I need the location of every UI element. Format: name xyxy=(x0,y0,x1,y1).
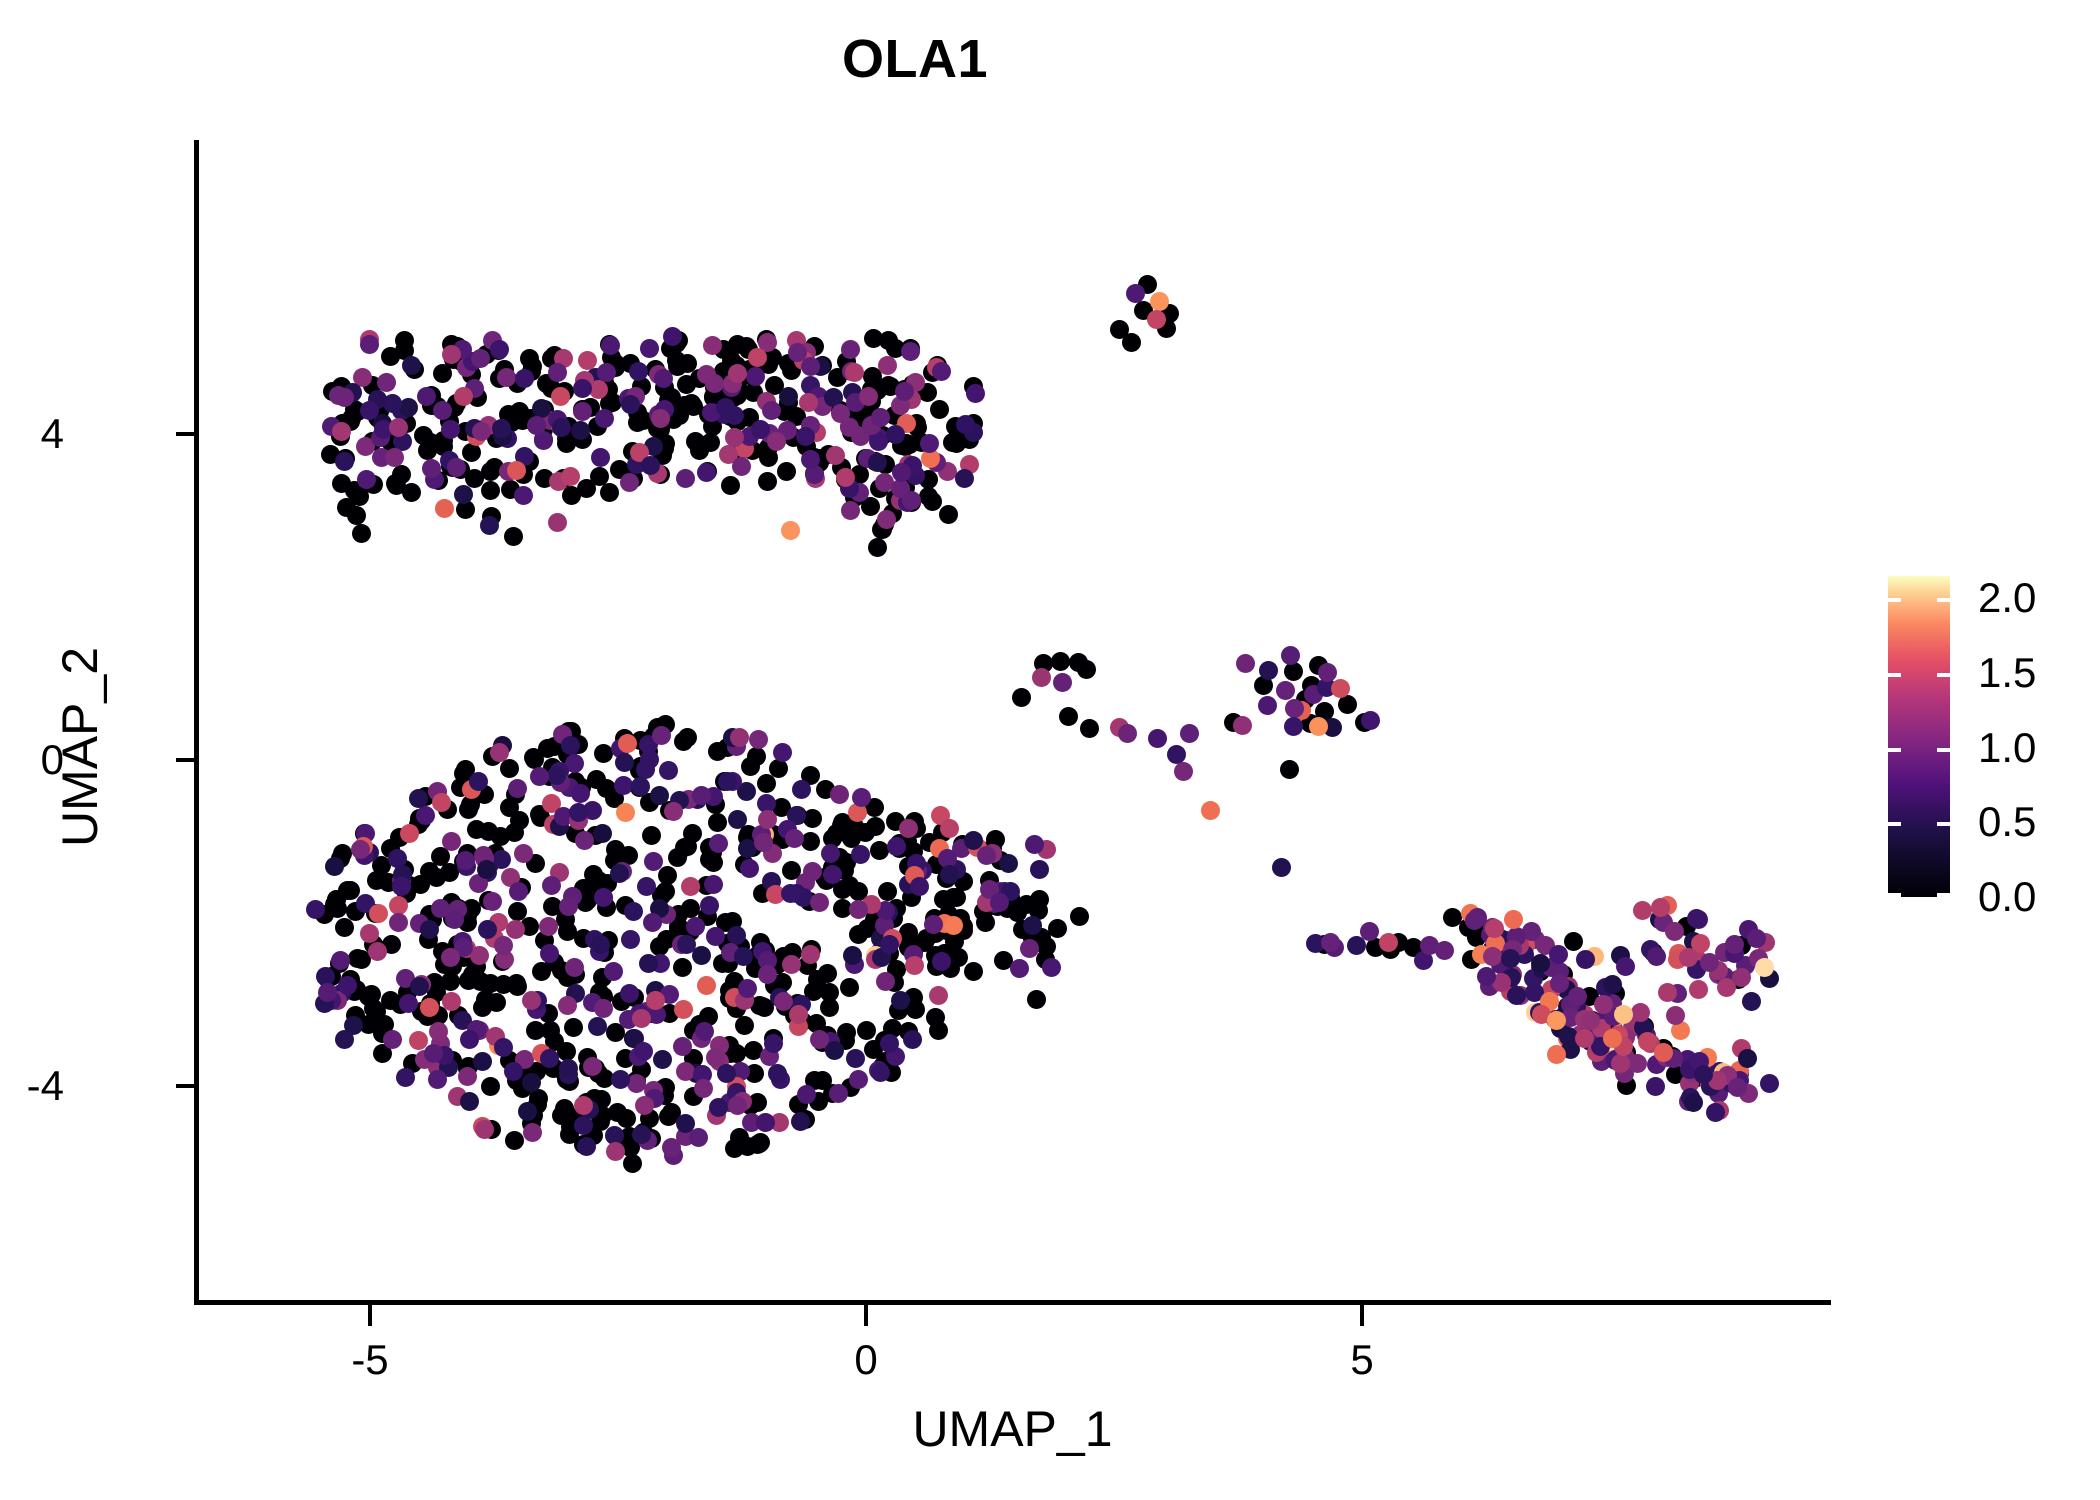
scatter-point xyxy=(1331,679,1350,698)
scatter-point xyxy=(1611,1054,1630,1073)
scatter-point xyxy=(1689,980,1708,999)
scatter-point xyxy=(730,728,749,747)
scatter-point xyxy=(547,766,566,785)
scatter-point xyxy=(697,976,716,995)
colorbar-tick-mark xyxy=(1888,598,1901,602)
scatter-point xyxy=(634,1042,653,1061)
scatter-point xyxy=(1684,1093,1703,1112)
scatter-point xyxy=(768,1064,787,1083)
colorbar-tick-mark xyxy=(1888,673,1901,677)
scatter-point xyxy=(573,402,592,421)
scatter-point xyxy=(559,1059,578,1078)
scatter-point xyxy=(748,348,767,367)
colorbar-tick-label: 2.0 xyxy=(1978,574,2036,622)
scatter-point xyxy=(526,1021,545,1040)
scatter-point xyxy=(632,1009,651,1028)
scatter-point xyxy=(1379,933,1398,952)
scatter-point xyxy=(352,524,371,543)
scatter-point xyxy=(428,1070,447,1089)
scatter-point xyxy=(964,962,983,981)
scatter-point xyxy=(514,486,533,505)
scatter-point xyxy=(1477,967,1496,986)
scatter-point xyxy=(523,1123,542,1142)
scatter-point xyxy=(999,854,1018,873)
scatter-point xyxy=(591,448,610,467)
scatter-point xyxy=(507,461,526,480)
scatter-point xyxy=(601,336,620,355)
scatter-point xyxy=(1280,760,1299,779)
scatter-point xyxy=(708,742,727,761)
scatter-point xyxy=(789,1005,808,1024)
scatter-point xyxy=(1568,987,1587,1006)
scatter-point xyxy=(357,470,376,489)
scatter-point xyxy=(628,413,647,432)
scatter-point xyxy=(868,453,887,472)
y-tick-label: 4 xyxy=(41,410,64,458)
scatter-point xyxy=(686,432,705,451)
scatter-point xyxy=(432,793,451,812)
scatter-point xyxy=(429,1022,448,1041)
scatter-point xyxy=(542,876,561,895)
scatter-point xyxy=(1010,959,1029,978)
x-tick-label: 5 xyxy=(1350,1336,1373,1384)
scatter-point xyxy=(1180,724,1199,743)
scatter-point xyxy=(1059,707,1078,726)
scatter-point xyxy=(478,920,497,939)
scatter-point xyxy=(327,890,346,909)
scatter-point xyxy=(1628,1054,1647,1073)
scatter-point xyxy=(924,915,943,934)
scatter-point xyxy=(758,472,777,491)
scatter-point xyxy=(518,1102,537,1121)
scatter-point xyxy=(396,1068,415,1087)
colorbar-gradient: 2.01.51.00.50.0 xyxy=(1888,576,1950,897)
scatter-point xyxy=(442,345,461,364)
scatter-point xyxy=(678,837,697,856)
scatter-point xyxy=(577,1137,596,1156)
scatter-point xyxy=(610,864,629,883)
scatter-point xyxy=(1700,953,1719,972)
scatter-point xyxy=(494,936,513,955)
scatter-point xyxy=(654,369,673,388)
scatter-point xyxy=(621,395,640,414)
scatter-point xyxy=(1020,939,1039,958)
scatter-point xyxy=(773,743,792,762)
scatter-point xyxy=(636,760,655,779)
scatter-point xyxy=(689,1128,708,1147)
scatter-point xyxy=(395,331,414,350)
scatter-point xyxy=(1575,1029,1594,1048)
scatter-point xyxy=(416,806,435,825)
scatter-point xyxy=(480,516,499,535)
scatter-point xyxy=(389,913,408,932)
scatter-point xyxy=(400,824,419,843)
scatter-point xyxy=(1738,1049,1757,1068)
scatter-point xyxy=(1233,716,1252,735)
scatter-point xyxy=(977,846,996,865)
colorbar-tick-mark xyxy=(1937,673,1950,677)
scatter-point xyxy=(539,917,558,936)
scatter-point xyxy=(929,1021,948,1040)
scatter-point xyxy=(652,726,671,745)
scatter-point xyxy=(1742,992,1761,1011)
scatter-point xyxy=(454,387,473,406)
scatter-point xyxy=(368,942,387,961)
scatter-point xyxy=(509,882,528,901)
scatter-point xyxy=(593,824,612,843)
scatter-point xyxy=(1603,975,1622,994)
scatter-point xyxy=(840,978,859,997)
scatter-point xyxy=(650,786,669,805)
scatter-point xyxy=(359,987,378,1006)
scatter-point xyxy=(799,393,818,412)
scatter-point xyxy=(620,473,639,492)
scatter-point xyxy=(1666,1006,1685,1025)
scatter-point xyxy=(1080,719,1099,738)
scatter-point xyxy=(595,409,614,428)
scatter-point xyxy=(826,446,845,465)
scatter-point xyxy=(617,1109,636,1128)
scatter-point xyxy=(442,832,461,851)
scatter-point xyxy=(600,483,619,502)
scatter-point xyxy=(856,823,875,842)
scatter-point xyxy=(681,877,700,896)
scatter-point xyxy=(1122,333,1141,352)
scatter-point xyxy=(574,1116,593,1135)
colorbar-tick-mark xyxy=(1888,748,1901,752)
y-tick-mark xyxy=(176,758,196,762)
scatter-point xyxy=(1747,929,1766,948)
scatter-point xyxy=(1258,696,1277,715)
scatter-point xyxy=(692,946,711,965)
scatter-point xyxy=(756,1113,775,1132)
scatter-point xyxy=(1284,662,1303,681)
scatter-point xyxy=(857,1021,876,1040)
scatter-point xyxy=(695,1022,714,1041)
scatter-point xyxy=(522,1073,541,1092)
scatter-point xyxy=(664,802,683,821)
scatter-point xyxy=(569,803,588,822)
scatter-point xyxy=(360,335,379,354)
scatter-point xyxy=(801,945,820,964)
scatter-point xyxy=(387,476,406,495)
scatter-point xyxy=(901,342,920,361)
scatter-point xyxy=(1027,990,1046,1009)
scatter-point xyxy=(558,996,577,1015)
scatter-point xyxy=(524,748,543,767)
scatter-point xyxy=(574,1096,593,1115)
scatter-point xyxy=(751,1133,770,1152)
scatter-point xyxy=(1174,762,1193,781)
colorbar-tick-label: 1.5 xyxy=(1978,649,2036,697)
scatter-point xyxy=(1550,974,1569,993)
scatter-point xyxy=(674,1000,693,1019)
scatter-point xyxy=(781,521,800,540)
scatter-point xyxy=(514,844,533,863)
scatter-point xyxy=(481,1077,500,1096)
scatter-point xyxy=(1564,932,1583,951)
scatter-point xyxy=(1760,1074,1779,1093)
scatter-point xyxy=(732,457,751,476)
scatter-point xyxy=(741,757,760,776)
scatter-point xyxy=(477,860,496,879)
scatter-point xyxy=(1276,681,1295,700)
scatter-point xyxy=(1547,1045,1566,1064)
scatter-point xyxy=(740,859,759,878)
scatter-point xyxy=(831,404,850,423)
y-tick-label: -4 xyxy=(27,1062,64,1110)
scatter-point xyxy=(651,409,670,428)
scatter-point xyxy=(1638,1032,1657,1051)
scatter-point xyxy=(1581,1011,1600,1030)
scatter-point xyxy=(880,1034,899,1053)
scatter-point xyxy=(335,918,354,937)
scatter-point xyxy=(677,375,696,394)
scatter-point xyxy=(1012,688,1031,707)
scatter-point xyxy=(956,415,975,434)
scatter-point xyxy=(849,900,868,919)
scatter-point xyxy=(818,964,837,983)
scatter-point xyxy=(1755,958,1774,977)
scatter-point xyxy=(467,820,486,839)
scatter-point xyxy=(797,1085,816,1104)
scatter-point xyxy=(564,1018,583,1037)
scatter-point xyxy=(1030,860,1049,879)
scatter-point xyxy=(1070,907,1089,926)
scatter-point xyxy=(369,904,388,923)
y-tick-mark xyxy=(176,1084,196,1088)
scatter-point xyxy=(880,935,899,954)
scatter-point xyxy=(447,458,466,477)
scatter-point xyxy=(868,538,887,557)
scatter-point xyxy=(641,456,660,475)
scatter-point xyxy=(781,884,800,903)
colorbar-tick-label: 0.0 xyxy=(1978,873,2036,921)
scatter-point xyxy=(940,819,959,838)
scatter-point xyxy=(1032,668,1051,687)
scatter-point xyxy=(551,387,570,406)
scatter-point xyxy=(540,1049,559,1068)
scatter-point xyxy=(561,467,580,486)
scatter-point xyxy=(859,387,878,406)
scatter-point xyxy=(335,452,354,471)
scatter-point xyxy=(849,1070,868,1089)
scatter-point xyxy=(577,479,596,498)
scatter-point xyxy=(673,958,692,977)
scatter-point xyxy=(505,823,524,842)
scatter-point xyxy=(606,1142,625,1161)
scatter-point xyxy=(433,401,452,420)
scatter-point xyxy=(483,892,502,911)
y-tick-mark xyxy=(176,432,196,436)
scatter-point xyxy=(1603,1029,1622,1048)
scatter-point xyxy=(1201,801,1220,820)
scatter-point xyxy=(532,962,551,981)
scatter-point xyxy=(706,927,725,946)
colorbar-tick-mark xyxy=(1937,598,1950,602)
scatter-point xyxy=(870,841,889,860)
scatter-point xyxy=(500,759,519,778)
scatter-point xyxy=(845,363,864,382)
scatter-point xyxy=(338,976,357,995)
scatter-point xyxy=(841,501,860,520)
scatter-point xyxy=(588,1017,607,1036)
scatter-point xyxy=(762,401,781,420)
scatter-point xyxy=(548,363,567,382)
scatter-point xyxy=(481,462,500,481)
scatter-point xyxy=(910,877,929,896)
scatter-point xyxy=(1647,947,1666,966)
scatter-point xyxy=(1053,673,1072,692)
scatter-point xyxy=(1284,717,1303,736)
scatter-point xyxy=(1435,941,1454,960)
scatter-point xyxy=(620,984,639,1003)
scatter-point xyxy=(757,774,776,793)
scatter-point xyxy=(820,983,839,1002)
y-tick-label: 0 xyxy=(41,736,64,784)
scatter-point xyxy=(1614,1005,1633,1024)
scatter-point xyxy=(575,831,594,850)
scatter-point xyxy=(639,954,658,973)
scatter-point xyxy=(329,386,348,405)
scatter-point xyxy=(435,499,454,518)
scatter-point xyxy=(792,780,811,799)
scatter-point xyxy=(476,990,495,1009)
scatter-point xyxy=(1148,729,1167,748)
scatter-point xyxy=(604,962,623,981)
scatter-point xyxy=(751,420,770,439)
scatter-point xyxy=(420,998,439,1017)
scatter-point xyxy=(697,463,716,482)
scatter-point xyxy=(803,862,822,881)
scatter-point xyxy=(1679,948,1698,967)
scatter-point xyxy=(1665,922,1684,941)
scatter-point xyxy=(624,902,643,921)
scatter-point xyxy=(727,926,746,945)
scatter-point xyxy=(360,924,379,943)
scatter-point xyxy=(738,979,757,998)
scatter-point xyxy=(383,1030,402,1049)
scatter-point xyxy=(381,347,400,366)
scatter-point xyxy=(306,900,325,919)
scatter-point xyxy=(758,965,777,984)
feature-plot-figure: OLA1 UMAP_2 UMAP_1 40-4-505 2.01.51.00.5… xyxy=(0,0,2100,1500)
scatter-point xyxy=(399,994,418,1013)
scatter-point xyxy=(682,394,701,413)
scatter-point xyxy=(1236,654,1255,673)
scatter-point xyxy=(708,813,727,832)
scatter-point xyxy=(990,893,1009,912)
scatter-point xyxy=(777,462,796,481)
scatter-point xyxy=(594,888,613,907)
x-axis-line xyxy=(194,1300,1831,1305)
scatter-point xyxy=(481,974,500,993)
scatter-point xyxy=(470,946,489,965)
scatter-point xyxy=(871,408,890,427)
scatter-point xyxy=(527,416,546,435)
scatter-point xyxy=(559,897,578,916)
scatter-point xyxy=(1023,916,1042,935)
scatter-point xyxy=(725,428,744,447)
scatter-point xyxy=(785,829,804,848)
scatter-point xyxy=(674,732,693,751)
scatter-point xyxy=(1576,950,1595,969)
scatter-point xyxy=(515,369,534,388)
scatter-point xyxy=(1077,660,1096,679)
x-tick-label: 0 xyxy=(854,1336,877,1384)
scatter-point xyxy=(895,382,914,401)
scatter-point xyxy=(332,474,351,493)
scatter-point xyxy=(1051,652,1070,671)
scatter-point xyxy=(801,450,820,469)
scatter-point xyxy=(782,955,801,974)
scatter-point xyxy=(1272,858,1291,877)
scatter-point xyxy=(1361,711,1380,730)
scatter-point xyxy=(392,877,411,896)
scatter-point xyxy=(767,432,786,451)
x-tick-mark xyxy=(864,1305,868,1326)
scatter-point xyxy=(471,349,490,368)
scatter-point xyxy=(351,840,370,859)
scatter-point xyxy=(1504,910,1523,929)
scatter-point xyxy=(899,819,918,838)
scatter-point xyxy=(955,469,974,488)
scatter-point xyxy=(829,1084,848,1103)
scatter-point xyxy=(456,851,475,870)
scatter-point xyxy=(721,476,740,495)
scatter-point xyxy=(673,1037,692,1056)
scatter-point xyxy=(864,329,883,348)
colorbar-tick-mark xyxy=(1937,822,1950,826)
colorbar-tick-label: 0.5 xyxy=(1978,798,2036,846)
scatter-point xyxy=(932,362,951,381)
scatter-points xyxy=(199,140,1831,1300)
scatter-point xyxy=(810,893,829,912)
scatter-point xyxy=(764,1034,783,1053)
x-tick-mark xyxy=(368,1305,372,1326)
scatter-point xyxy=(540,944,559,963)
scatter-point xyxy=(441,948,460,967)
colorbar-tick-mark xyxy=(1888,822,1901,826)
scatter-point xyxy=(409,789,428,808)
scatter-point xyxy=(886,425,905,444)
scatter-point xyxy=(325,857,344,876)
scatter-point xyxy=(830,785,849,804)
scatter-point xyxy=(779,387,798,406)
scatter-point xyxy=(939,505,958,524)
scatter-point xyxy=(841,340,860,359)
scatter-point xyxy=(616,803,635,822)
scatter-point xyxy=(460,1092,479,1111)
scatter-point xyxy=(335,1030,354,1049)
scatter-point xyxy=(508,779,527,798)
scatter-point xyxy=(905,956,924,975)
scatter-point xyxy=(417,387,436,406)
scatter-point xyxy=(843,946,862,965)
scatter-point xyxy=(522,991,541,1010)
x-tick-label: -5 xyxy=(351,1336,388,1384)
scatter-point xyxy=(677,935,696,954)
scatter-point xyxy=(966,384,985,403)
scatter-point xyxy=(490,340,509,359)
scatter-point xyxy=(704,875,723,894)
scatter-point xyxy=(1549,945,1568,964)
scatter-point xyxy=(923,492,942,511)
scatter-point xyxy=(548,513,567,532)
scatter-point xyxy=(878,356,897,375)
scatter-point xyxy=(851,845,870,864)
scatter-point xyxy=(571,421,590,440)
